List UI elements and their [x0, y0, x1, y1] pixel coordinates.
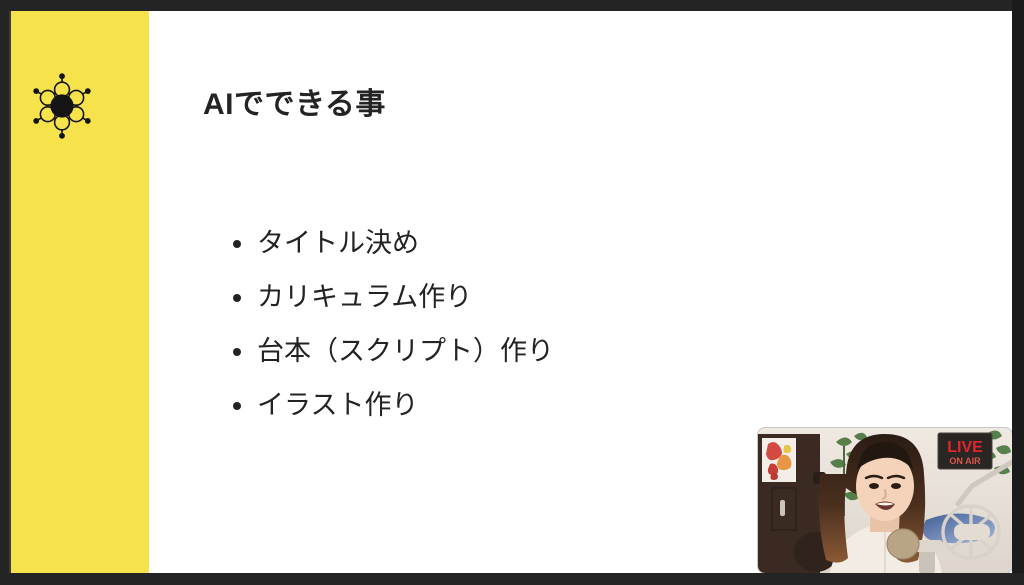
- presentation-slide: AIでできる事 タイトル決め カリキュラム作り 台本（スクリプト）作り イラスト…: [11, 11, 1012, 573]
- bullet-label: カリキュラム作り: [257, 282, 472, 312]
- bullet-dot-icon: [233, 402, 241, 410]
- neon-sign-live-text: LIVE: [947, 439, 983, 456]
- bullet-label: 台本（スクリプト）作り: [257, 336, 554, 366]
- bullet-label: タイトル決め: [257, 228, 419, 258]
- bullet-dot-icon: [233, 240, 241, 248]
- atom-flower-logo-icon: [27, 71, 97, 141]
- bullet-dot-icon: [233, 348, 241, 356]
- slide-sidebar-accent: [11, 11, 149, 573]
- bullet-label: イラスト作り: [257, 390, 418, 420]
- bullet-list: タイトル決め カリキュラム作り 台本（スクリプト）作り イラスト作り: [227, 227, 554, 421]
- neon-sign-onair-text: ON AIR: [949, 456, 981, 466]
- bullet-list-item: イラスト作り: [227, 389, 554, 421]
- bullet-list-item: 台本（スクリプト）作り: [227, 335, 554, 367]
- screen-capture: AIでできる事 タイトル決め カリキュラム作り 台本（スクリプト）作り イラスト…: [0, 0, 1024, 585]
- bullet-list-item: カリキュラム作り: [227, 281, 554, 313]
- slide-title: AIでできる事: [203, 79, 386, 123]
- bullet-dot-icon: [233, 294, 241, 302]
- bullet-list-item: タイトル決め: [227, 227, 554, 259]
- window-chrome-bottom: [0, 573, 1024, 585]
- window-chrome-right: [1012, 0, 1024, 585]
- window-chrome-top: [0, 0, 1024, 11]
- presenter-webcam-overlay[interactable]: LIVE ON AIR: [758, 428, 1012, 573]
